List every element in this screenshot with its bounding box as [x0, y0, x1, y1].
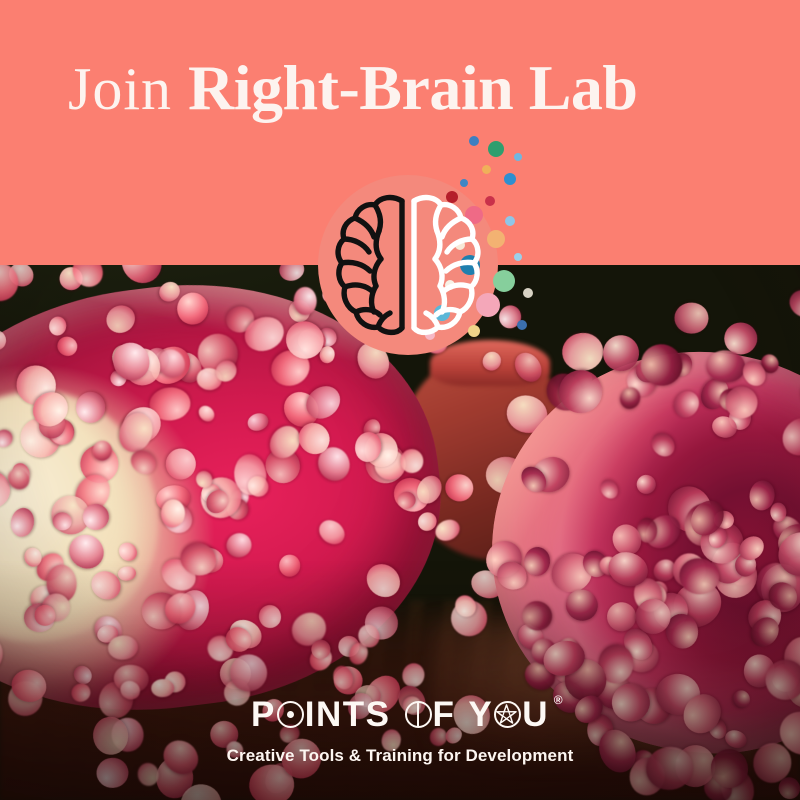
brand-lockup: PINTSFYU® Creative Tools & Training for … [0, 697, 800, 766]
brand-tagline: Creative Tools & Training for Developmen… [0, 746, 800, 766]
pomegranate-aril [52, 511, 72, 530]
o-bar-glyph-icon [405, 701, 432, 728]
headline-light-word: Join [68, 56, 172, 122]
pomegranate-aril [770, 503, 786, 522]
o-dot-glyph-icon [277, 701, 304, 728]
registered-trademark-symbol: ® [554, 694, 564, 706]
right-brain-lab-brain-logo [318, 175, 498, 355]
pomegranate-aril [150, 678, 174, 697]
brain-icon [332, 191, 484, 341]
brand-title: PINTSFYU® [251, 697, 549, 732]
logo-dot [460, 179, 468, 187]
brand-letter-y: Y [468, 695, 493, 734]
logo-dot [485, 196, 495, 206]
brand-letter-u: U [522, 695, 549, 734]
brand-letter-p: P [251, 695, 276, 734]
page-title: JoinRight-Brain Lab [68, 54, 748, 122]
brand-letters-ints: INTS [305, 695, 391, 734]
brand-letter-f: F [433, 695, 456, 734]
o-pentagram-glyph-icon [494, 701, 521, 728]
pomegranate-aril [765, 659, 800, 700]
promo-graphic-canvas: JoinRight-Brain Lab [0, 0, 800, 800]
headline-bold-word: Right-Brain Lab [188, 52, 637, 123]
